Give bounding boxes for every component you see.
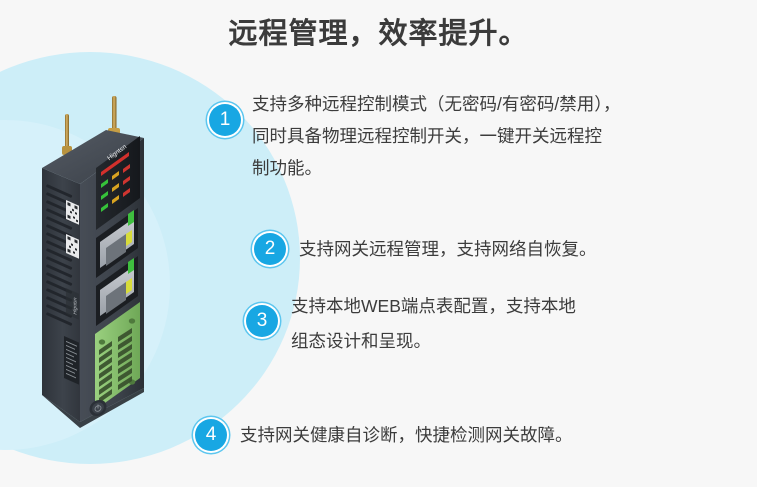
- feature-badge-1: 1: [209, 104, 241, 136]
- promo-banner: 远程管理，效率提升。: [0, 0, 757, 487]
- feature-badge-2: 2: [254, 233, 286, 265]
- feature-badge-4: 4: [195, 419, 227, 451]
- feature-text-3: 支持本地WEB端点表配置，支持本地 组态设计和呈现。: [291, 289, 711, 359]
- feature-text-1: 支持多种远程控制模式（无密码/有密码/禁用）， 同时具备物理远程控制开关，一键开…: [252, 88, 752, 184]
- feature-list: 1 支持多种远程控制模式（无密码/有密码/禁用）， 同时具备物理远程控制开关，一…: [0, 0, 757, 487]
- feature-text-2: 支持网关远程管理，支持网络自恢复。: [299, 233, 719, 265]
- feature-badge-3: 3: [246, 305, 278, 337]
- feature-text-4: 支持网关健康自诊断，快捷检测网关故障。: [240, 419, 720, 451]
